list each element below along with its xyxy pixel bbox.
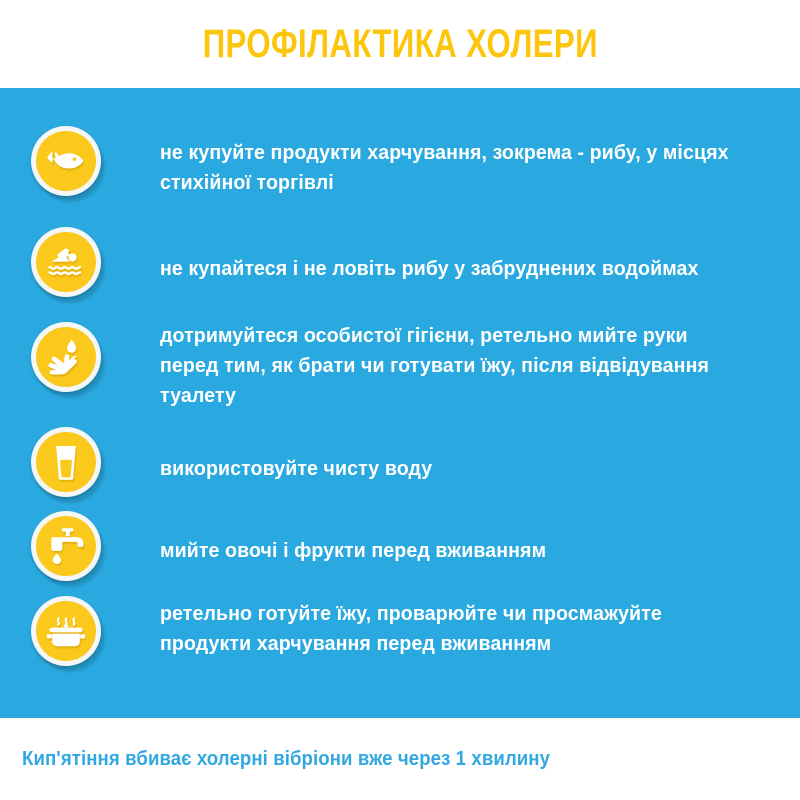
icon-badge xyxy=(31,511,105,585)
badge-core xyxy=(36,232,96,292)
cooking-pot-icon xyxy=(45,610,87,652)
list-item-text: не купайтеся і не ловіть рибу у забрудне… xyxy=(160,254,733,284)
icon-badge xyxy=(31,596,105,670)
badge-core xyxy=(36,516,96,576)
icon-badge xyxy=(31,227,105,301)
title-bar: ПРОФІЛАКТИКА ХОЛЕРИ xyxy=(0,0,800,88)
badge-ring xyxy=(31,227,101,297)
icon-badge xyxy=(31,126,105,200)
badge-core xyxy=(36,432,96,492)
badge-ring xyxy=(31,126,101,196)
badge-core xyxy=(36,131,96,191)
content-panel: не купуйте продукти харчування, зокрема … xyxy=(0,88,800,718)
footer-bar: Кип'ятіння вбиває холерні вібріони вже ч… xyxy=(0,718,800,800)
badge-core xyxy=(36,601,96,661)
icon-badge xyxy=(31,322,105,396)
infographic-poster: ПРОФІЛАКТИКА ХОЛЕРИ н xyxy=(0,0,800,800)
icon-badge xyxy=(31,427,105,501)
badge-ring xyxy=(31,511,101,581)
prevention-list: не купуйте продукти харчування, зокрема … xyxy=(0,88,800,718)
faucet-icon xyxy=(45,525,87,567)
list-item-text: використовуйте чисту воду xyxy=(160,454,733,484)
water-glass-icon xyxy=(45,441,87,483)
badge-core xyxy=(36,327,96,387)
badge-ring xyxy=(31,322,101,392)
list-item-text: мийте овочі і фрукти перед вживанням xyxy=(160,536,733,566)
hand-washing-icon xyxy=(45,336,87,378)
list-item-text: дотримуйтеся особистої гігієни, ретельно… xyxy=(160,321,733,411)
swimmer-icon xyxy=(45,241,87,283)
fish-icon xyxy=(45,140,87,182)
badge-ring xyxy=(31,596,101,666)
list-item-text: не купуйте продукти харчування, зокрема … xyxy=(160,138,733,198)
list-item-text: ретельно готуйте їжу, проварюйте чи прос… xyxy=(160,599,733,659)
badge-ring xyxy=(31,427,101,497)
page-title: ПРОФІЛАКТИКА ХОЛЕРИ xyxy=(202,22,597,67)
footer-note: Кип'ятіння вбиває холерні вібріони вже ч… xyxy=(22,748,550,771)
